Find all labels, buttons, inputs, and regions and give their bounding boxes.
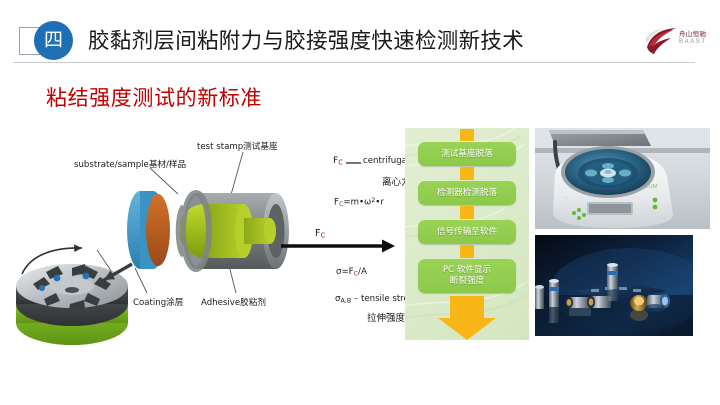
slide-canvas: 四 胶黏剂层间粘附力与胶接强度快速检测新技术 舟山恒驰 BAAST 粘结强度测试…: [0, 0, 720, 405]
flow-step-1-label: 检测器检测脱落: [437, 188, 497, 199]
flow-arrow-3: [460, 245, 474, 258]
label-adhesive: Adhesive胶粘剂: [201, 296, 266, 308]
flow-arrow-2: [460, 206, 474, 219]
flow-arrow-output: [450, 296, 484, 318]
page-title: 胶黏剂层间粘附力与胶接强度快速检测新技术: [88, 24, 524, 55]
formula-stress: σ=FC/A: [336, 267, 367, 277]
flow-step-2-label: 信号传输至软件: [437, 227, 497, 238]
svg-text:LUM: LUM: [645, 184, 658, 190]
brand-logo-en: BAAST: [679, 38, 719, 46]
flow-step-3-label2: 断裂强度: [450, 276, 484, 287]
header-divider: [13, 62, 695, 63]
centrifuge-machine-photo: LUM: [535, 128, 710, 229]
flow-step-3-label: PC 软件显示: [443, 265, 491, 276]
flow-step-3[interactable]: PC 软件显示 断裂强度: [418, 259, 516, 293]
label-substrate: substrate/sample基材/样品: [74, 158, 186, 170]
flow-step-0-label: 测试基座脱落: [441, 149, 493, 160]
diagram-graphics: [0, 118, 410, 348]
formula-centrifugal: FC=m•ω2•r: [334, 197, 384, 208]
brand-logo-cn: 舟山恒驰: [679, 30, 719, 38]
flow-step-1[interactable]: 检测器检测脱落: [418, 181, 516, 205]
flow-step-0[interactable]: 测试基座脱落: [418, 142, 516, 166]
header-badge-circle: 四: [34, 21, 73, 60]
flow-arrow-0: [460, 129, 474, 141]
rotor-group: [16, 244, 128, 345]
brand-logo-text: 舟山恒驰 BAAST: [679, 30, 719, 46]
centrifuge-test-diagram: substrate/sample基材/样品 test stamp测试基座 Coa…: [0, 118, 410, 348]
label-test-stamp: test stamp测试基座: [197, 140, 278, 152]
test-stamps-product-photo: [535, 235, 710, 336]
label-force-arrow: FC: [315, 228, 325, 240]
flow-step-2[interactable]: 信号传输至软件: [418, 220, 516, 244]
label-tensile-strength-cn: 拉伸强度: [367, 310, 405, 324]
flow-arrow-1: [460, 167, 474, 180]
label-fc-symbol: FC: [333, 156, 343, 166]
label-coating: Coating涂层: [133, 296, 183, 308]
exploded-assembly: [127, 191, 289, 269]
process-flow-panel: 测试基座脱落 检测器检测脱落 信号传输至软件 PC 软件显示 断裂强度: [405, 128, 529, 340]
header-badge-number: 四: [44, 31, 63, 50]
section-subtitle: 粘结强度测试的新标准: [46, 82, 262, 112]
